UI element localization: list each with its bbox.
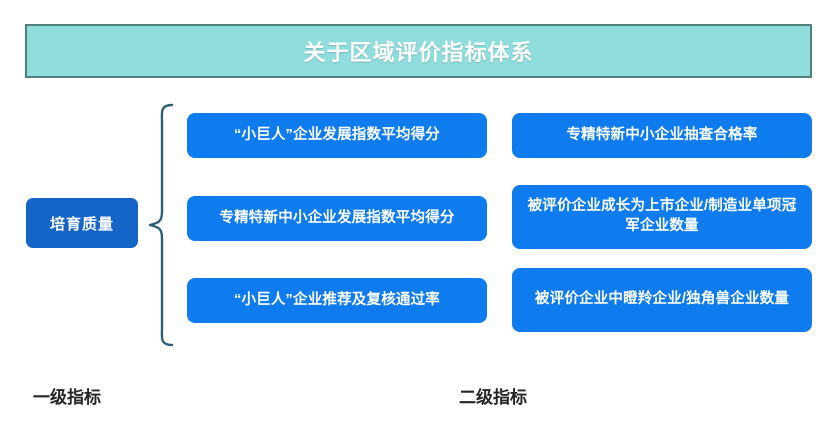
level2-node-left-3[interactable]: “小巨人”企业推荐及复核通过率	[187, 278, 487, 323]
level1-indicator-chip[interactable]: 培育质量	[26, 198, 138, 248]
page-title: 关于区域评价指标体系	[303, 35, 533, 67]
level2-node-left-1[interactable]: “小巨人”企业发展指数平均得分	[187, 113, 487, 158]
page-title-banner: 关于区域评价指标体系	[25, 24, 812, 78]
level2-node-label: 专精特新中小企业发展指数平均得分	[219, 209, 454, 229]
level2-node-label: “小巨人”企业推荐及复核通过率	[234, 291, 440, 311]
level2-node-label: 被评价企业成长为上市企业/制造业单项冠军企业数量	[522, 197, 802, 236]
level1-indicator-label: 培育质量	[50, 213, 114, 234]
level2-node-label: 专精特新中小企业抽查合格率	[566, 126, 757, 146]
curly-brace-icon	[140, 100, 188, 350]
level2-right-column: 专精特新中小企业抽查合格率 被评价企业成长为上市企业/制造业单项冠军企业数量 被…	[512, 105, 812, 345]
level2-indicator-grid: “小巨人”企业发展指数平均得分 专精特新中小企业发展指数平均得分 “小巨人”企业…	[187, 105, 812, 345]
caption-level2: 二级指标	[459, 383, 527, 408]
caption-level1: 一级指标	[33, 383, 101, 408]
level2-node-left-2[interactable]: 专精特新中小企业发展指数平均得分	[187, 196, 487, 241]
level2-left-column: “小巨人”企业发展指数平均得分 专精特新中小企业发展指数平均得分 “小巨人”企业…	[187, 105, 487, 345]
level2-node-label: 被评价企业中瞪羚企业/独角兽企业数量	[535, 290, 789, 310]
level2-node-right-2[interactable]: 被评价企业成长为上市企业/制造业单项冠军企业数量	[512, 185, 812, 249]
level2-node-right-3[interactable]: 被评价企业中瞪羚企业/独角兽企业数量	[512, 268, 812, 332]
level2-node-right-1[interactable]: 专精特新中小企业抽查合格率	[512, 113, 812, 158]
level2-node-label: “小巨人”企业发展指数平均得分	[234, 126, 440, 146]
